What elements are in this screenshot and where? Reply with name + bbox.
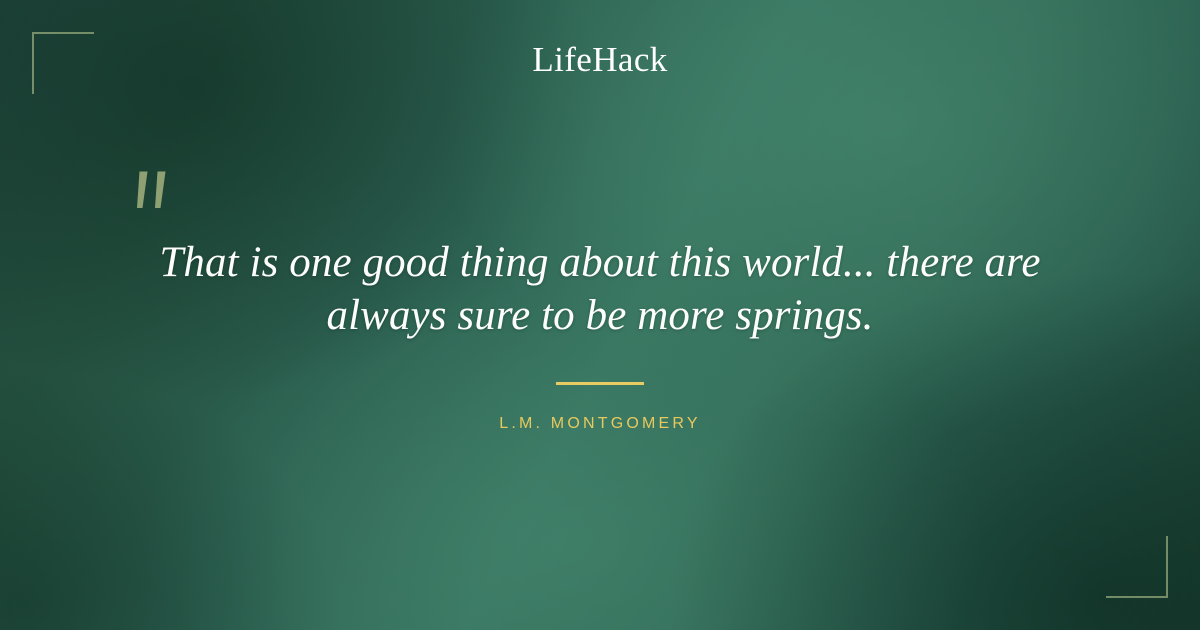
brand-logo: LifeHack [0, 40, 1200, 80]
quote-author: L.M. MONTGOMERY [0, 415, 1200, 433]
quote-text: That is one good thing about this world.… [100, 236, 1100, 342]
divider-rule [556, 382, 644, 385]
corner-bracket-icon-bottom-right [1106, 536, 1168, 598]
quote-card: LifeHack That is one good thing about th… [0, 0, 1200, 630]
double-quote-icon [128, 168, 184, 220]
